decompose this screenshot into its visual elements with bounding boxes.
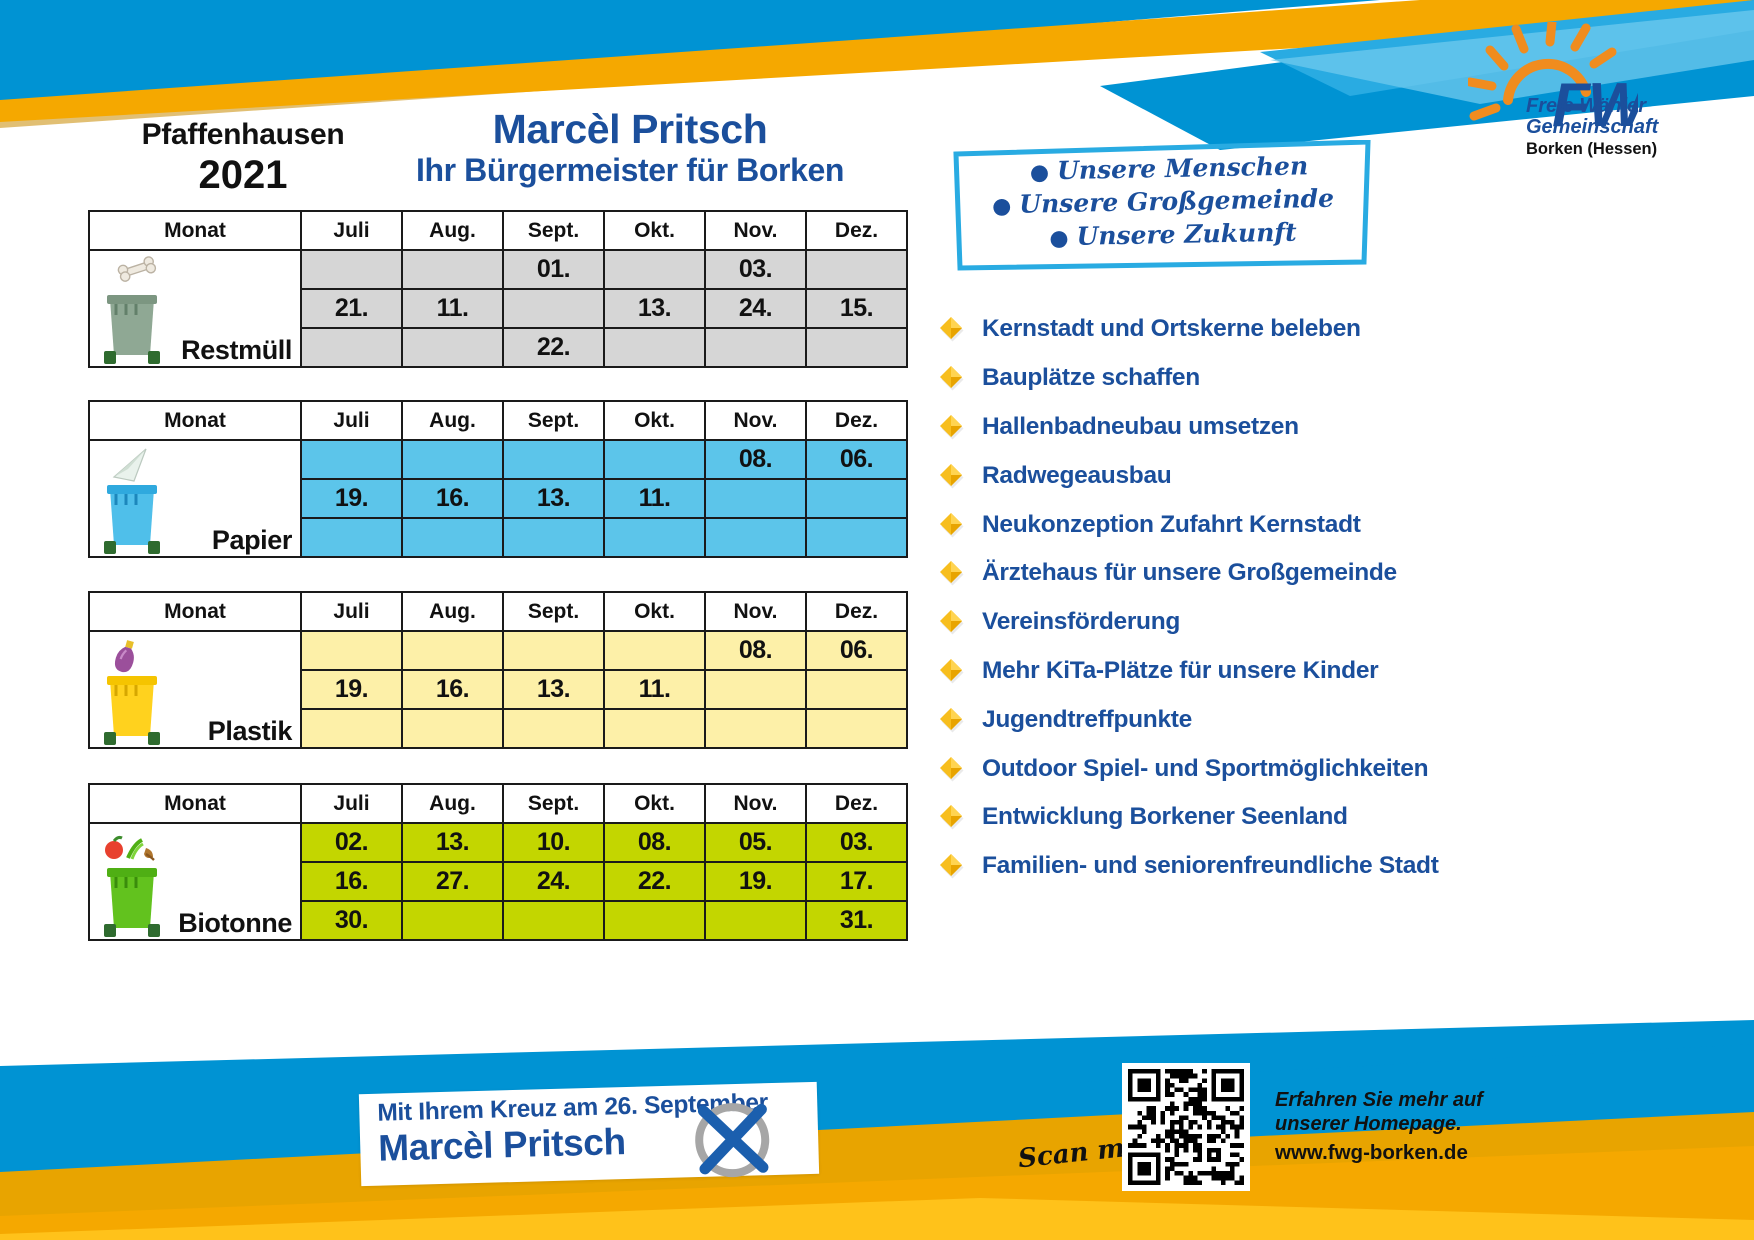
pickup-date-cell: 03.: [705, 250, 806, 289]
poster-canvas: Pfaffenhausen 2021 Marcèl Pritsch Ihr Bü…: [0, 0, 1754, 1240]
pickup-date-cell: 06.: [806, 440, 907, 479]
pickup-date-cell: 05.: [705, 823, 806, 862]
diamond-bullet-icon: [938, 512, 964, 538]
diamond-bullet-icon: [938, 609, 964, 635]
slogan-label: Unsere Menschen: [1057, 151, 1309, 185]
pickup-date-cell: 27.: [402, 862, 503, 901]
goal-label: Outdoor Spiel- und Sportmöglichkeiten: [982, 755, 1428, 783]
column-header-month: Monat: [89, 592, 301, 631]
homepage-line1: Erfahren Sie mehr auf: [1275, 1088, 1505, 1112]
bullet-dot-icon: ●: [1030, 159, 1050, 185]
pickup-date-cell: [402, 631, 503, 670]
column-header-dez: Dez.: [806, 211, 907, 250]
goal-item: Mehr KiTa-Plätze für unsere Kinder: [938, 647, 1738, 696]
goal-item: Familien- und seniorenfreundliche Stadt: [938, 842, 1738, 891]
table-header-row: MonatJuliAug.Sept.Okt.Nov.Dez.: [89, 401, 907, 440]
calendar-table-restmuell: MonatJuliAug.Sept.Okt.Nov.Dez.Restmüll01…: [88, 210, 908, 368]
pickup-date-cell: 11.: [604, 670, 705, 709]
pickup-date-cell: 08.: [604, 823, 705, 862]
waste-type-label: Restmüll: [181, 335, 292, 365]
slogan-item-3: ●Unsere Zukunft: [988, 214, 1359, 254]
pickup-date-cell: 10.: [503, 823, 604, 862]
diamond-bullet-icon: [938, 560, 964, 586]
pickup-date-cell: 22.: [604, 862, 705, 901]
fw-logo-line1: Freie Wähler: [1526, 96, 1716, 117]
waste-type-cell-papier: Papier: [89, 440, 301, 557]
bullet-dot-icon: ●: [1049, 225, 1069, 251]
pickup-date-cell: 01.: [503, 250, 604, 289]
column-header-sept: Sept.: [503, 211, 604, 250]
pickup-date-cell: [604, 328, 705, 367]
waste-type-cell-biotonne: Biotonne: [89, 823, 301, 940]
pickup-date-cell: [402, 250, 503, 289]
pickup-date-cell: [705, 328, 806, 367]
pickup-date-cell: [503, 901, 604, 940]
goal-label: Ärztehaus für unsere Großgemeinde: [982, 559, 1397, 587]
pickup-date-cell: 24.: [503, 862, 604, 901]
column-header-nov: Nov.: [705, 592, 806, 631]
green-bin-icon: [96, 828, 180, 940]
calendar-table-papier: MonatJuliAug.Sept.Okt.Nov.Dez.Papier08.0…: [88, 400, 908, 558]
goal-label: Jugendtreffpunkte: [982, 706, 1192, 734]
column-header-okt: Okt.: [604, 592, 705, 631]
pickup-date-cell: [503, 289, 604, 328]
grey-bin-icon: [96, 255, 180, 367]
slogan-box: ●Unsere Menschen ●Unsere Großgemeinde ●U…: [952, 140, 1372, 272]
pickup-date-cell: 13.: [402, 823, 503, 862]
diamond-bullet-icon: [938, 316, 964, 342]
diamond-bullet-icon: [938, 853, 964, 879]
waste-type-cell-plastik: Plastik: [89, 631, 301, 748]
pickup-date-cell: 08.: [705, 631, 806, 670]
fw-logo: FW Freie Wähler Gemeinschaft Borken (Hes…: [1388, 22, 1708, 192]
pickup-date-cell: [806, 479, 907, 518]
pickup-date-cell: [402, 328, 503, 367]
waste-type-label: Papier: [212, 525, 292, 555]
column-header-dez: Dez.: [806, 592, 907, 631]
slogan-label: Unsere Großgemeinde: [1019, 184, 1334, 219]
homepage-url: www.fwg-borken.de: [1275, 1140, 1505, 1167]
pickup-date-cell: [806, 328, 907, 367]
column-header-sept: Sept.: [503, 592, 604, 631]
goal-item: Jugendtreffpunkte: [938, 695, 1738, 744]
waste-type-label: Plastik: [208, 716, 292, 746]
pickup-date-cell: 22.: [503, 328, 604, 367]
goals-list: Kernstadt und Ortskerne belebenBauplätze…: [938, 305, 1738, 891]
goal-item: Outdoor Spiel- und Sportmöglichkeiten: [938, 744, 1738, 793]
pickup-date-cell: 11.: [604, 479, 705, 518]
pickup-date-cell: 19.: [705, 862, 806, 901]
diamond-bullet-icon: [938, 365, 964, 391]
goal-label: Radwegeausbau: [982, 462, 1171, 490]
yellow-bin-icon: [96, 636, 180, 748]
goal-item: Kernstadt und Ortskerne beleben: [938, 305, 1738, 354]
pickup-date-cell: 31.: [806, 901, 907, 940]
column-header-nov: Nov.: [705, 211, 806, 250]
fw-logo-line3: Borken (Hessen): [1526, 140, 1716, 160]
pickup-date-cell: [705, 901, 806, 940]
pickup-date-cell: [806, 518, 907, 557]
column-header-month: Monat: [89, 401, 301, 440]
column-header-aug: Aug.: [402, 592, 503, 631]
calendar-table-plastik: MonatJuliAug.Sept.Okt.Nov.Dez.Plastik08.…: [88, 591, 908, 749]
goal-item: Radwegeausbau: [938, 451, 1738, 500]
candidate-name: Marcèl Pritsch: [330, 108, 930, 151]
column-header-sept: Sept.: [503, 401, 604, 440]
column-header-aug: Aug.: [402, 211, 503, 250]
pickup-date-cell: [604, 631, 705, 670]
column-header-dez: Dez.: [806, 784, 907, 823]
goal-label: Bauplätze schaffen: [982, 364, 1200, 392]
goal-label: Vereinsförderung: [982, 608, 1180, 636]
vote-banner: Mit Ihrem Kreuz am 26. September Marcèl …: [359, 1082, 819, 1186]
pickup-date-cell: 08.: [705, 440, 806, 479]
pickup-date-cell: 13.: [503, 670, 604, 709]
table-header-row: MonatJuliAug.Sept.Okt.Nov.Dez.: [89, 211, 907, 250]
bullet-dot-icon: ●: [992, 193, 1012, 219]
table-header-row: MonatJuliAug.Sept.Okt.Nov.Dez.: [89, 784, 907, 823]
pickup-date-cell: 11.: [402, 289, 503, 328]
pickup-date-cell: [301, 250, 402, 289]
pickup-date-cell: 06.: [806, 631, 907, 670]
goal-label: Entwicklung Borkener Seenland: [982, 803, 1348, 831]
goal-label: Neukonzeption Zufahrt Kernstadt: [982, 511, 1361, 539]
table-row: Papier08.06.: [89, 440, 907, 479]
pickup-date-cell: [705, 518, 806, 557]
pickup-date-cell: [604, 901, 705, 940]
goal-item: Entwicklung Borkener Seenland: [938, 793, 1738, 842]
table-row: Plastik08.06.: [89, 631, 907, 670]
column-header-nov: Nov.: [705, 784, 806, 823]
goal-label: Hallenbadneubau umsetzen: [982, 413, 1299, 441]
pickup-date-cell: [402, 709, 503, 748]
qr-code-icon[interactable]: [1122, 1063, 1250, 1191]
pickup-date-cell: 16.: [301, 862, 402, 901]
pickup-date-cell: [806, 250, 907, 289]
pickup-date-cell: [301, 328, 402, 367]
goal-label: Mehr KiTa-Plätze für unsere Kinder: [982, 657, 1378, 685]
pickup-date-cell: [402, 901, 503, 940]
goal-item: Ärztehaus für unsere Großgemeinde: [938, 549, 1738, 598]
goal-item: Hallenbadneubau umsetzen: [938, 403, 1738, 452]
diamond-bullet-icon: [938, 804, 964, 830]
pickup-date-cell: [503, 631, 604, 670]
pickup-date-cell: [705, 709, 806, 748]
pickup-date-cell: [301, 709, 402, 748]
pickup-date-cell: [604, 440, 705, 479]
fw-logo-line2: Gemeinschaft: [1526, 117, 1716, 138]
column-header-juli: Juli: [301, 784, 402, 823]
pickup-date-cell: [604, 250, 705, 289]
column-header-month: Monat: [89, 211, 301, 250]
goal-item: Vereinsförderung: [938, 598, 1738, 647]
pickup-date-cell: [301, 631, 402, 670]
goal-item: Bauplätze schaffen: [938, 354, 1738, 403]
goal-label: Familien- und seniorenfreundliche Stadt: [982, 852, 1439, 880]
vote-banner-line2: Marcèl Pritsch: [378, 1121, 626, 1170]
pickup-date-cell: 30.: [301, 901, 402, 940]
pickup-date-cell: [301, 440, 402, 479]
pickup-date-cell: [402, 440, 503, 479]
waste-type-label: Biotonne: [178, 908, 292, 938]
slogan-text: ●Unsere Menschen ●Unsere Großgemeinde ●U…: [952, 140, 1372, 272]
pickup-date-cell: 19.: [301, 479, 402, 518]
pickup-date-cell: 02.: [301, 823, 402, 862]
pickup-date-cell: [806, 670, 907, 709]
column-header-month: Monat: [89, 784, 301, 823]
pickup-date-cell: 15.: [806, 289, 907, 328]
pickup-date-cell: 19.: [301, 670, 402, 709]
pickup-date-cell: 17.: [806, 862, 907, 901]
diamond-bullet-icon: [938, 707, 964, 733]
diamond-bullet-icon: [938, 658, 964, 684]
table-header-row: MonatJuliAug.Sept.Okt.Nov.Dez.: [89, 592, 907, 631]
candidate-role: Ihr Bürgermeister für Borken: [330, 153, 930, 189]
column-header-okt: Okt.: [604, 211, 705, 250]
table-row: Biotonne02.13.10.08.05.03.: [89, 823, 907, 862]
pickup-date-cell: [503, 440, 604, 479]
column-header-nov: Nov.: [705, 401, 806, 440]
pickup-date-cell: 16.: [402, 670, 503, 709]
column-header-dez: Dez.: [806, 401, 907, 440]
homepage-line2: unserer Homepage.: [1275, 1112, 1505, 1136]
column-header-aug: Aug.: [402, 401, 503, 440]
waste-type-cell-restmuell: Restmüll: [89, 250, 301, 367]
diamond-bullet-icon: [938, 414, 964, 440]
pickup-date-cell: [806, 709, 907, 748]
pickup-date-cell: 13.: [503, 479, 604, 518]
pickup-date-cell: [705, 670, 806, 709]
diamond-bullet-icon: [938, 756, 964, 782]
pickup-date-cell: [402, 518, 503, 557]
column-header-sept: Sept.: [503, 784, 604, 823]
pickup-date-cell: [301, 518, 402, 557]
candidate-block: Marcèl Pritsch Ihr Bürgermeister für Bor…: [330, 108, 930, 189]
column-header-juli: Juli: [301, 211, 402, 250]
pickup-date-cell: 16.: [402, 479, 503, 518]
column-header-okt: Okt.: [604, 401, 705, 440]
pickup-date-cell: [503, 709, 604, 748]
column-header-juli: Juli: [301, 592, 402, 631]
column-header-aug: Aug.: [402, 784, 503, 823]
ballot-cross-icon: [689, 1097, 775, 1183]
pickup-date-cell: [604, 709, 705, 748]
pickup-date-cell: [604, 518, 705, 557]
pickup-date-cell: [503, 518, 604, 557]
column-header-juli: Juli: [301, 401, 402, 440]
calendar-table-biotonne: MonatJuliAug.Sept.Okt.Nov.Dez.Biotonne02…: [88, 783, 908, 941]
diamond-bullet-icon: [938, 463, 964, 489]
goal-label: Kernstadt und Ortskerne beleben: [982, 315, 1361, 343]
homepage-block: Erfahren Sie mehr auf unserer Homepage. …: [1275, 1088, 1505, 1166]
pickup-date-cell: 03.: [806, 823, 907, 862]
slogan-label: Unsere Zukunft: [1076, 218, 1297, 251]
goal-item: Neukonzeption Zufahrt Kernstadt: [938, 500, 1738, 549]
column-header-okt: Okt.: [604, 784, 705, 823]
blue-bin-icon: [96, 445, 180, 557]
table-row: Restmüll01.03.: [89, 250, 907, 289]
pickup-date-cell: 13.: [604, 289, 705, 328]
pickup-date-cell: 24.: [705, 289, 806, 328]
fw-logo-text: Freie Wähler Gemeinschaft Borken (Hessen…: [1526, 96, 1716, 160]
pickup-date-cell: 21.: [301, 289, 402, 328]
pickup-date-cell: [705, 479, 806, 518]
